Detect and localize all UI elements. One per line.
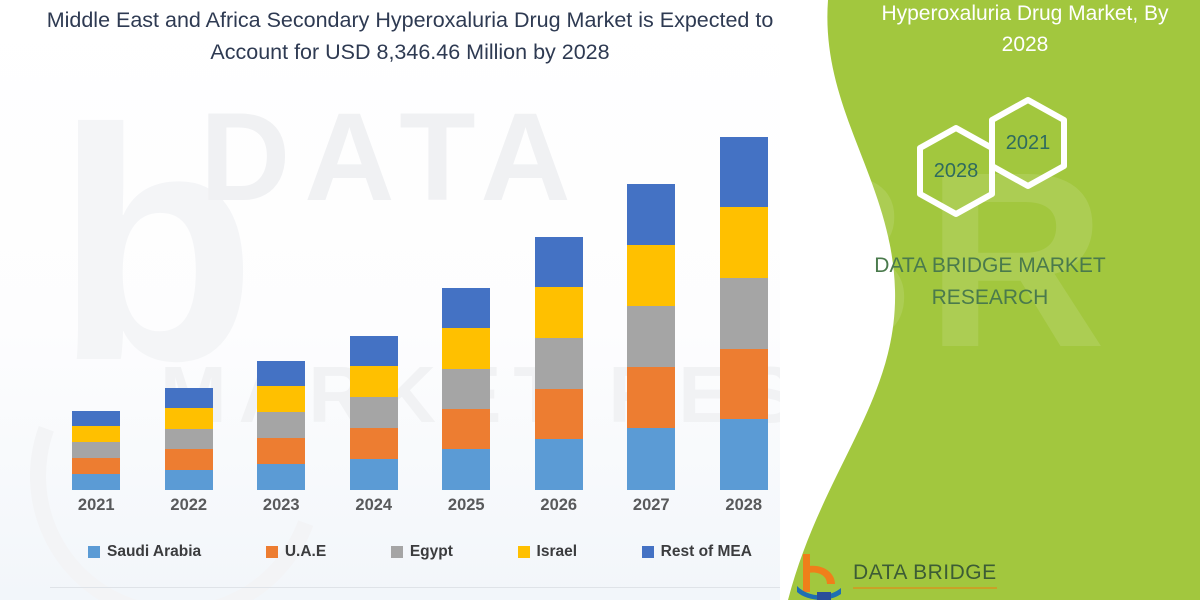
bar-segment-egypt-2023[interactable]: [257, 412, 305, 438]
bar-stack: [442, 288, 490, 490]
legend-swatch-icon: [391, 546, 403, 558]
bar-segment-egypt-2026[interactable]: [535, 338, 583, 389]
bar-segment-israel-2023[interactable]: [257, 386, 305, 412]
bar-segment-u-a-e-2026[interactable]: [535, 389, 583, 439]
bar-column-2027[interactable]: [605, 100, 697, 490]
legend-swatch-icon: [518, 546, 530, 558]
chart-legend: Saudi ArabiaU.A.EEgyptIsraelRest of MEA: [70, 538, 770, 566]
green-panel: BR Hyperoxaluria Drug Market, By 2028 20…: [780, 0, 1200, 600]
bar-segment-u-a-e-2024[interactable]: [350, 428, 398, 459]
bar-segment-saudi-arabia-2022[interactable]: [165, 470, 213, 490]
bar-segment-u-a-e-2021[interactable]: [72, 458, 120, 474]
logo-text-block: DATA BRIDGE: [853, 552, 997, 589]
x-axis-label-2024: 2024: [328, 496, 420, 524]
bar-stack: [350, 336, 398, 490]
bar-segment-egypt-2024[interactable]: [350, 397, 398, 428]
bar-column-2023[interactable]: [235, 100, 327, 490]
legend-item-saudi-arabia[interactable]: Saudi Arabia: [88, 543, 201, 561]
x-axis-label-2027: 2027: [605, 496, 697, 524]
bar-group: [50, 100, 790, 490]
bar-column-2025[interactable]: [420, 100, 512, 490]
x-axis-label-2023: 2023: [235, 496, 327, 524]
bar-stack: [535, 237, 583, 490]
x-axis-label-2021: 2021: [50, 496, 142, 524]
hexagon-label-2028: 2028: [913, 123, 999, 219]
bar-segment-egypt-2022[interactable]: [165, 429, 213, 449]
bar-stack: [720, 137, 768, 490]
x-axis-label-2028: 2028: [698, 496, 790, 524]
legend-label: Saudi Arabia: [107, 543, 201, 561]
x-axis-labels: 20212022202320242025202620272028: [50, 496, 790, 524]
legend-label: Israel: [537, 543, 578, 561]
bar-stack: [257, 361, 305, 490]
bar-segment-saudi-arabia-2023[interactable]: [257, 464, 305, 490]
bar-segment-u-a-e-2027[interactable]: [627, 367, 675, 428]
bar-segment-u-a-e-2025[interactable]: [442, 409, 490, 449]
bar-column-2024[interactable]: [328, 100, 420, 490]
bar-stack: [165, 388, 213, 490]
bar-segment-israel-2022[interactable]: [165, 408, 213, 429]
logo-title: DATA BRIDGE: [853, 561, 997, 589]
bar-column-2026[interactable]: [513, 100, 605, 490]
bar-segment-saudi-arabia-2026[interactable]: [535, 439, 583, 490]
bar-segment-saudi-arabia-2027[interactable]: [627, 428, 675, 490]
bar-segment-rest-of-mea-2021[interactable]: [72, 411, 120, 426]
bar-segment-israel-2021[interactable]: [72, 426, 120, 442]
bar-segment-saudi-arabia-2021[interactable]: [72, 474, 120, 490]
hexagon-badge-2028: 2028: [913, 123, 999, 219]
bar-column-2021[interactable]: [50, 100, 142, 490]
bar-segment-saudi-arabia-2028[interactable]: [720, 419, 768, 490]
bar-stack: [627, 184, 675, 490]
bar-segment-rest-of-mea-2023[interactable]: [257, 361, 305, 386]
bar-segment-rest-of-mea-2026[interactable]: [535, 237, 583, 287]
bar-segment-israel-2026[interactable]: [535, 287, 583, 338]
bar-segment-egypt-2025[interactable]: [442, 369, 490, 409]
chart-panel: b DATA MARKET RESEARCH Middle East and A…: [0, 0, 830, 600]
legend-label: U.A.E: [285, 543, 326, 561]
bar-segment-rest-of-mea-2028[interactable]: [720, 137, 768, 207]
bar-segment-rest-of-mea-2025[interactable]: [442, 288, 490, 328]
data-bridge-logo: DATA BRIDGE: [795, 552, 1095, 600]
x-axis-label-2022: 2022: [143, 496, 235, 524]
bar-column-2028[interactable]: [698, 100, 790, 490]
legend-item-u-a-e[interactable]: U.A.E: [266, 543, 326, 561]
x-axis-label-2026: 2026: [513, 496, 605, 524]
bar-stack: [72, 411, 120, 490]
bar-segment-rest-of-mea-2027[interactable]: [627, 184, 675, 245]
bar-segment-saudi-arabia-2024[interactable]: [350, 459, 398, 490]
bar-segment-u-a-e-2023[interactable]: [257, 438, 305, 464]
green-panel-title: Hyperoxaluria Drug Market, By 2028: [875, 0, 1175, 60]
plot-area: [50, 100, 790, 490]
legend-swatch-icon: [642, 546, 654, 558]
bar-segment-egypt-2021[interactable]: [72, 442, 120, 458]
brand-name: DATA BRIDGE MARKET RESEARCH: [840, 250, 1140, 314]
bar-segment-israel-2027[interactable]: [627, 245, 675, 306]
bar-segment-rest-of-mea-2022[interactable]: [165, 388, 213, 408]
bar-segment-rest-of-mea-2024[interactable]: [350, 336, 398, 366]
bar-segment-israel-2024[interactable]: [350, 366, 398, 397]
legend-swatch-icon: [266, 546, 278, 558]
bar-column-2022[interactable]: [143, 100, 235, 490]
chart-title: Middle East and Africa Secondary Hyperox…: [30, 4, 790, 68]
bar-segment-israel-2028[interactable]: [720, 207, 768, 278]
bar-segment-israel-2025[interactable]: [442, 328, 490, 369]
bar-segment-u-a-e-2028[interactable]: [720, 349, 768, 419]
data-bridge-b-mark-icon: [795, 552, 845, 600]
bar-segment-u-a-e-2022[interactable]: [165, 449, 213, 470]
legend-label: Egypt: [410, 543, 453, 561]
hexagon-badges: 2021 2028: [885, 95, 1075, 220]
bar-segment-egypt-2028[interactable]: [720, 278, 768, 349]
legend-item-israel[interactable]: Israel: [518, 543, 578, 561]
x-axis-line: [50, 587, 790, 588]
legend-label: Rest of MEA: [661, 543, 752, 561]
legend-item-rest-of-mea[interactable]: Rest of MEA: [642, 543, 752, 561]
bar-segment-saudi-arabia-2025[interactable]: [442, 449, 490, 490]
x-axis-label-2025: 2025: [420, 496, 512, 524]
legend-item-egypt[interactable]: Egypt: [391, 543, 453, 561]
legend-swatch-icon: [88, 546, 100, 558]
bar-segment-egypt-2027[interactable]: [627, 306, 675, 367]
